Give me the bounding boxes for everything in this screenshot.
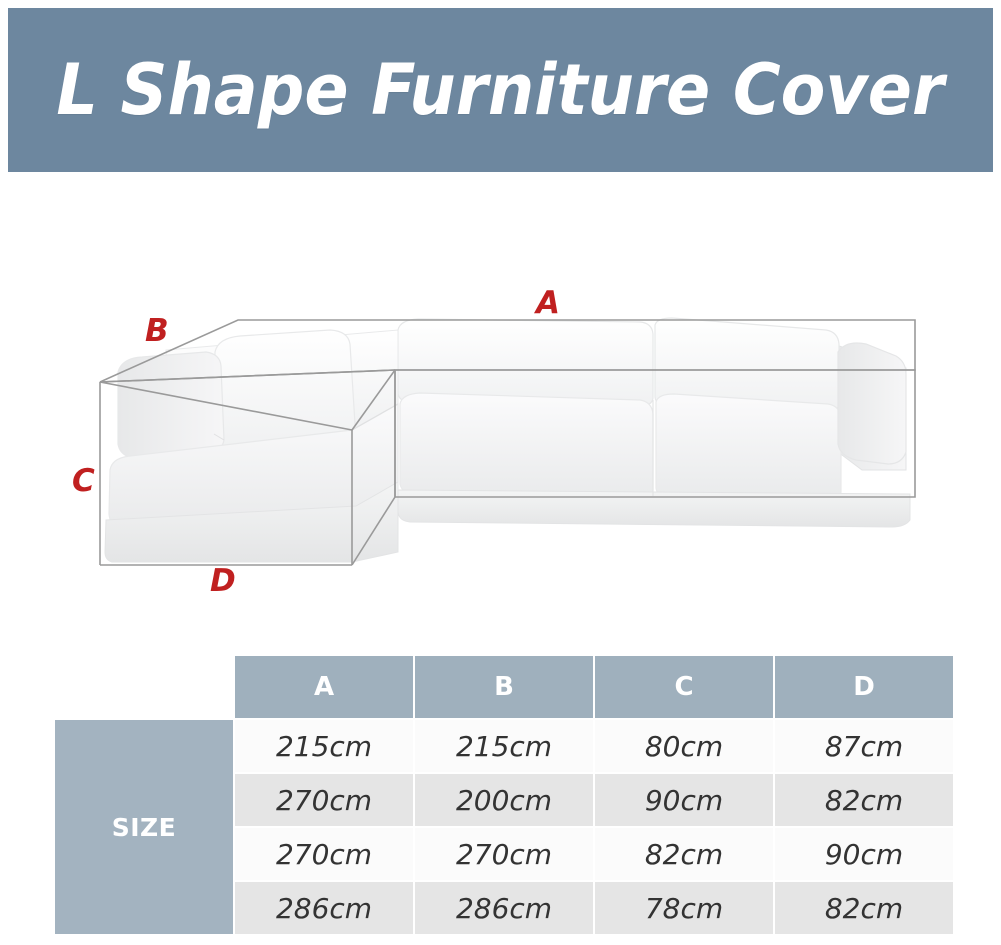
size-table: A B C D SIZE 215cm 215cm 80cm 87cm 270cm…	[53, 654, 955, 936]
cell-row3-b: 270cm	[415, 828, 593, 880]
header-cell-c: C	[595, 656, 773, 718]
cell-row4-b: 286cm	[415, 882, 593, 934]
header-cell-a: A	[235, 656, 413, 718]
cell-row2-b: 200cm	[415, 774, 593, 826]
cell-row2-d: 82cm	[775, 774, 953, 826]
header-cell-corner	[55, 656, 233, 718]
header-cell-d: D	[775, 656, 953, 718]
cell-row2-c: 90cm	[595, 774, 773, 826]
header-cell-b: B	[415, 656, 593, 718]
dimension-label-b: B	[145, 316, 169, 347]
table-header-row: A B C D	[55, 656, 953, 718]
cell-row2-a: 270cm	[235, 774, 413, 826]
cell-row3-c: 82cm	[595, 828, 773, 880]
cell-row1-c: 80cm	[595, 720, 773, 772]
sofa-illustration: A B C D	[0, 0, 1001, 470]
dimension-label-d: D	[210, 566, 236, 597]
size-label-cell: SIZE	[55, 720, 233, 934]
cell-row3-d: 90cm	[775, 828, 953, 880]
cell-row4-c: 78cm	[595, 882, 773, 934]
cell-row1-d: 87cm	[775, 720, 953, 772]
dimension-label-c: C	[72, 466, 95, 497]
sofa-body	[105, 318, 910, 562]
cell-row1-a: 215cm	[235, 720, 413, 772]
cell-row4-a: 286cm	[235, 882, 413, 934]
product-infographic: L Shape Furniture Cover	[0, 0, 1001, 945]
cell-row4-d: 82cm	[775, 882, 953, 934]
table-row: SIZE 215cm 215cm 80cm 87cm	[55, 720, 953, 772]
dimension-label-a: A	[536, 288, 560, 319]
cell-row1-b: 215cm	[415, 720, 593, 772]
cell-row3-a: 270cm	[235, 828, 413, 880]
